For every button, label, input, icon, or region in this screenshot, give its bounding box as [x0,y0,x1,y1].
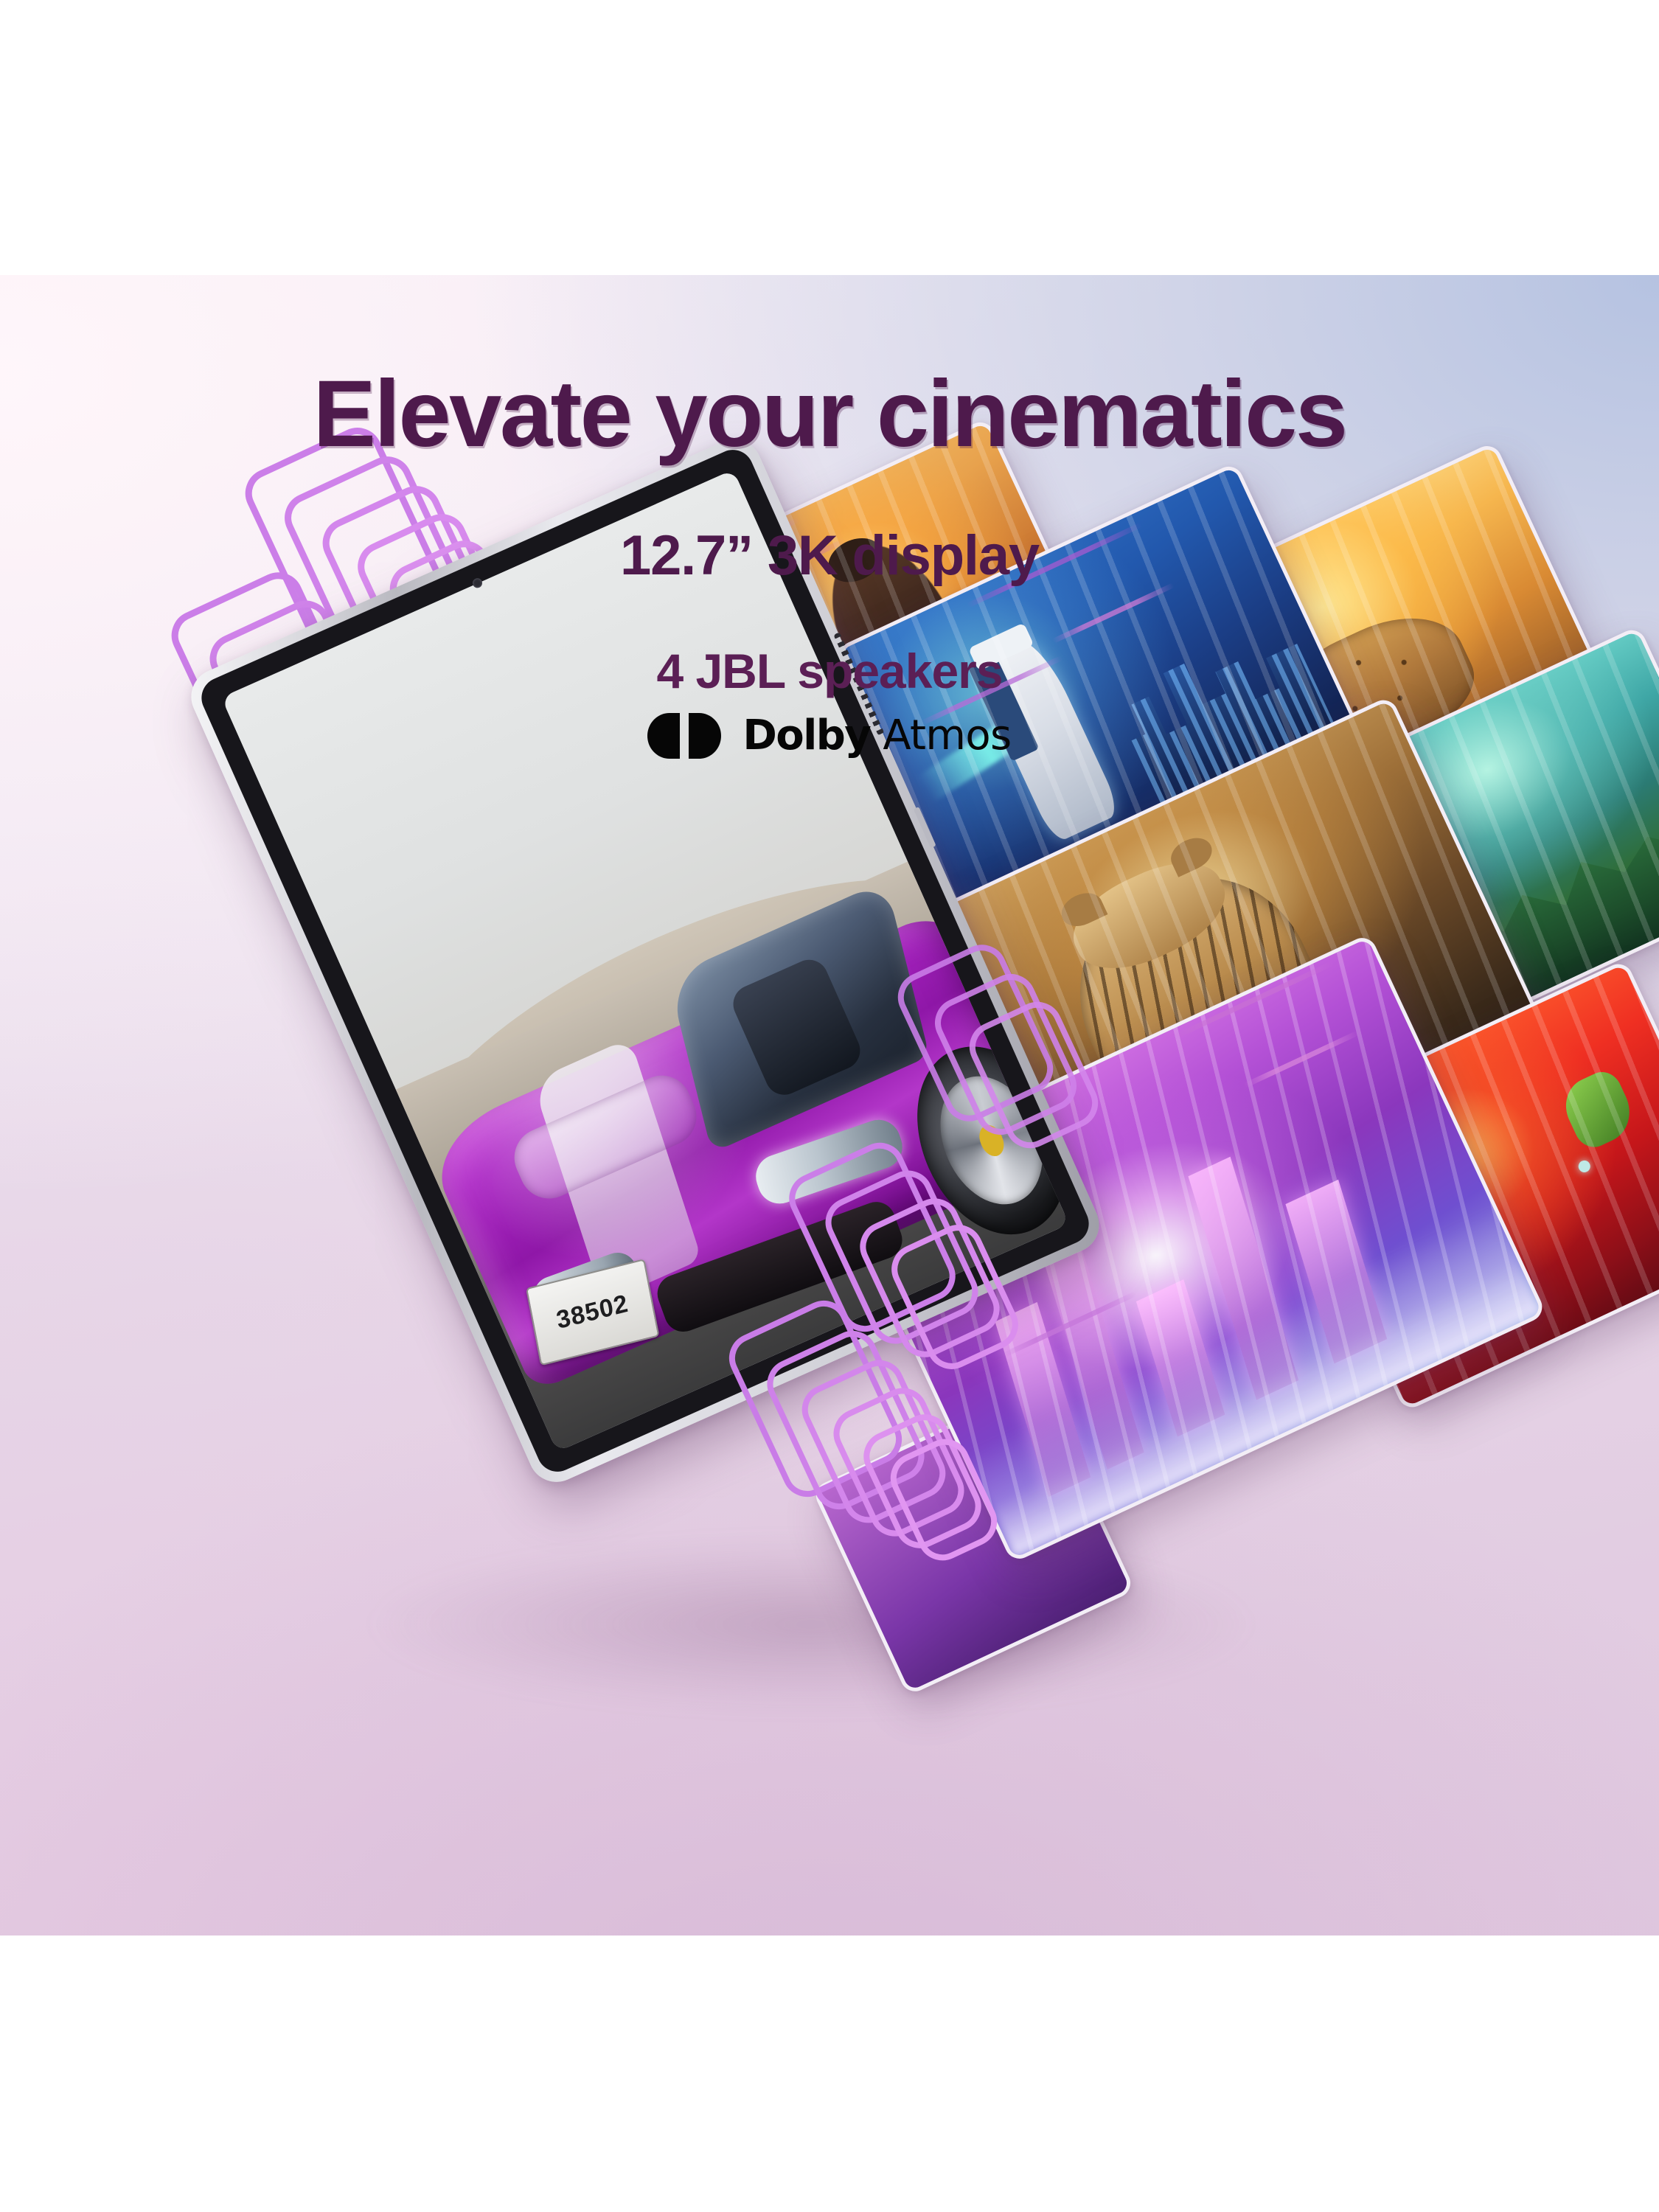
dolby-atmos-logo: Dolby Atmos [0,697,1659,759]
display-spec-text: 12.7” 3K display [0,463,1659,585]
atmos-word-light: Atmos [870,712,1011,759]
dolby-atmos-wordmark: Dolby Atmos [742,715,1011,757]
audio-spec-text: 4 JBL speakers [0,585,1659,697]
promo-copy: Elevate your cinematics 12.7” 3K display… [0,275,1659,759]
floor-shadow [243,1514,1379,1735]
page-title: Elevate your cinematics [0,275,1659,463]
license-plate-number: 38502 [554,1290,630,1335]
dolby-double-d-icon [647,713,730,759]
promo-banner: 38502 [0,275,1659,1935]
promo-page: 38502 [0,0,1659,2212]
dolby-word-bold: Dolby [742,712,870,759]
